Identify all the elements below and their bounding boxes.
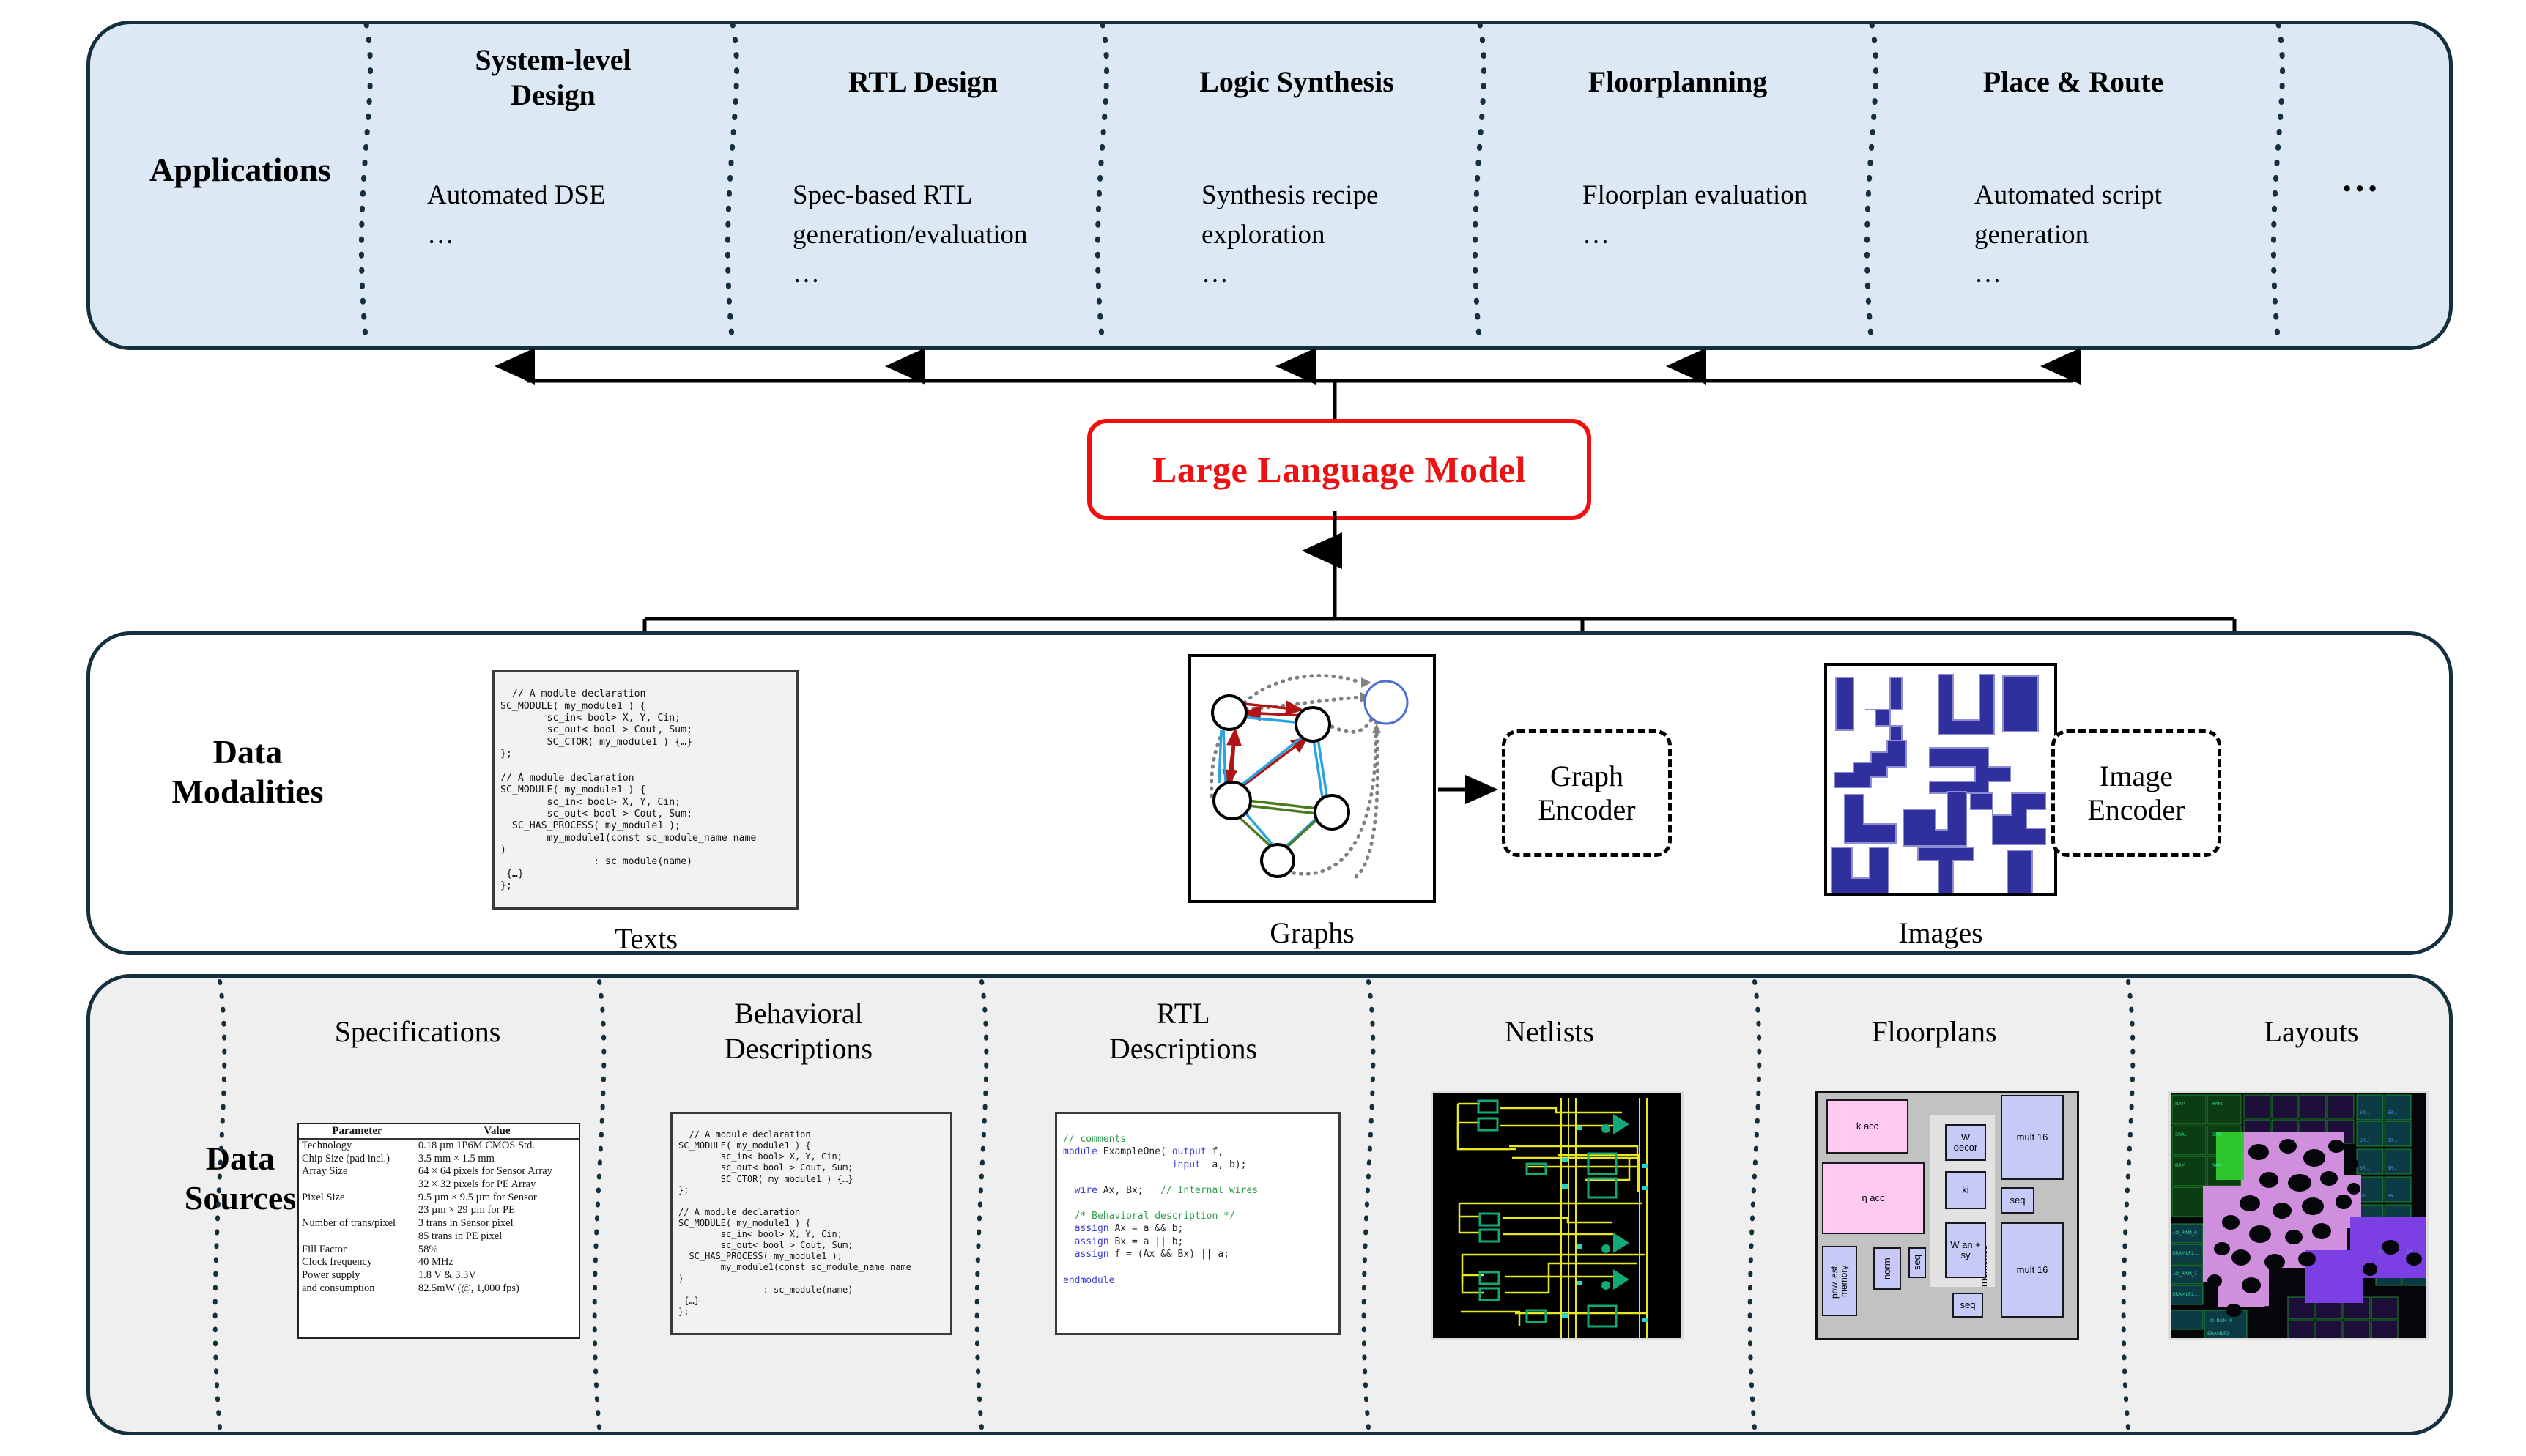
svg-text:SRA..: SRA.. [2175,1132,2188,1137]
floorplan-block-mult16-bottom: mult 16 [2001,1222,2064,1318]
svg-text:SRAMLP2...: SRAMLP2... [2172,1250,2199,1256]
image-encoder-label: Image Encoder [2087,759,2185,827]
spec-value-cell: 64 × 64 pixels for Sensor Array [415,1165,579,1178]
spec-parameter-cell: Number of trans/pixel [299,1217,415,1230]
application-title-floorplanning: Floorplanning [1491,64,1864,100]
svg-text:RAM: RAM [2212,1162,2222,1168]
application-body-logic-synthesis: Synthesis recipe exploration … [1201,176,1516,294]
source-title-floorplans: Floorplans [1769,1014,2099,1050]
svg-text:RAM: RAM [2175,1162,2185,1168]
floorplan-block-ki: ki [1945,1171,1986,1209]
floorplan-block-label: W decor [1954,1132,1978,1154]
source-title-layouts: Layouts [2150,1014,2473,1050]
layout-illustration: RAMRAM SRA..SRA.. RAMRAM ..O_RAM_0SRAMLP… [2171,1093,2429,1340]
table-row: Clock frequency40 MHz [299,1256,579,1269]
modality-caption-graphs: Graphs [1188,915,1436,950]
modality-caption-texts: Texts [500,921,793,956]
svg-text:SR...: SR... [2388,1138,2398,1143]
layouts-card: RAMRAM SRA..SRA.. RAMRAM ..O_RAM_0SRAMLP… [2168,1091,2429,1340]
spec-col-header-parameter: Parameter [299,1124,415,1139]
svg-text:SRAMLP2: SRAMLP2 [2207,1331,2229,1337]
graph-encoder-box[interactable]: Graph Encoder [1502,729,1672,857]
graphs-card [1188,654,1436,903]
svg-text:SR...: SR... [2388,1110,2398,1115]
svg-text:SR...: SR... [2360,1138,2370,1143]
spec-value-cell: 9.5 µm × 9.5 µm for Sensor [415,1192,579,1205]
graph-illustration [1191,657,1436,903]
spec-parameter-cell [299,1230,415,1244]
floorplan-block-seq-left: seq [1908,1247,1926,1278]
floorplan-block-label: mult 16 [2017,1132,2048,1143]
floorplan-block-label: seq [2010,1195,2026,1206]
application-title-system-level-design: System-level Design [381,42,725,113]
application-title-place-and-route: Place & Route [1883,64,2264,100]
spec-parameter-cell: Fill Factor [299,1244,415,1257]
floorplan-block-label: W an + sy [1950,1240,1981,1261]
images-card [1824,663,2057,896]
table-row: 32 × 32 pixels for PE Array [299,1178,579,1192]
floorplan-block-mult16-top: mult 16 [2001,1095,2064,1180]
source-title-behavioral-descriptions: Behavioral Descriptions [630,996,967,1066]
svg-text:SR...: SR... [2360,1194,2370,1199]
netlist-illustration [1433,1093,1684,1340]
spec-parameter-cell: Power supply [299,1269,415,1282]
table-row: Array Size64 × 64 pixels for Sensor Arra… [299,1165,579,1178]
graph-encoder-label: Graph Encoder [1538,759,1635,827]
modality-caption-images: Images [1824,915,2057,950]
spec-parameter-cell: Pixel Size [299,1192,415,1205]
table-row: and consumption82.5mW (@, 1,000 fps) [299,1282,579,1296]
svg-text:..O_RAM_0: ..O_RAM_0 [2207,1318,2232,1323]
systemc-code: // A module declaration SC_MODULE( my_mo… [500,688,756,891]
floorplan-block-eta-acc: η acc [1822,1162,1925,1234]
floorplan-block-label: pow. est. memory [1830,1263,1849,1298]
source-title-specifications: Specifications [256,1014,579,1050]
application-title-logic-synthesis: Logic Synthesis [1117,64,1476,100]
spec-value-cell: 23 µm × 29 µm for PE [415,1204,579,1217]
svg-text:RAM: RAM [2212,1101,2222,1107]
floorplan-block-label: mult 16 [2017,1265,2048,1275]
applications-row-label: Applications [101,150,379,190]
floorplan-block-k-acc: k acc [1826,1099,1908,1154]
application-body-rtl-design: Spec-based RTL generation/evaluation … [793,176,1130,294]
floorplan-block-label: seq [1912,1255,1922,1271]
images-illustration [1827,666,2057,896]
application-body-system-level-design: Automated DSE … [427,176,735,254]
table-row: Pixel Size9.5 µm × 9.5 µm for Sensor [299,1192,579,1205]
texts-code-card: // A module declaration SC_MODULE( my_mo… [492,670,799,910]
floorplan-block-norm: norm [1873,1247,1901,1290]
floorplan-block-label: norm [1882,1258,1892,1279]
application-body-place-and-route: Automated script generation … [1974,176,2289,294]
spec-parameter-cell [299,1204,415,1217]
spec-parameter-cell: Clock frequency [299,1256,415,1269]
spec-table-element: Parameter Value Technology0.18 µm 1P6M C… [299,1124,579,1295]
table-row: Number of trans/pixel3 trans in Sensor p… [299,1217,579,1230]
spec-value-cell: 85 trans in PE pixel [415,1230,579,1244]
svg-text:SR...: SR... [2379,1249,2389,1255]
table-row: Fill Factor58% [299,1244,579,1257]
applications-more-ellipsis: … [2341,157,2382,201]
svg-text:SR...: SR... [2388,1194,2398,1199]
spec-value-cell: 0.18 µm 1P6M CMOS Std. [415,1139,579,1153]
floorplan-block-label: k acc [1856,1121,1878,1132]
spec-value-cell: 3 trans in Sensor pixel [415,1217,579,1230]
image-encoder-box[interactable]: Image Encoder [2051,729,2221,857]
floorplan-block-seq-right: seq [2001,1187,2034,1214]
llm-label: Large Language Model [1152,448,1526,491]
floorplans-card: k acc η acc pow. est. memory norm seq me… [1815,1091,2079,1340]
floorplan-block-label: η acc [1862,1193,1884,1203]
svg-text:SR...: SR... [2388,1166,2398,1171]
floorplan-block-pow-est-memory: pow. est. memory [1822,1246,1857,1316]
floorplan-block-label: seq [1960,1300,1976,1310]
rtl-description-code-card: // comments module ExampleOne( output f,… [1055,1112,1341,1335]
table-row: 85 trans in PE pixel [299,1230,579,1244]
spec-value-cell: 1.8 V & 3.3V [415,1269,579,1282]
spec-value-cell: 58% [415,1244,579,1257]
svg-text:SR...: SR... [2407,1249,2417,1255]
svg-text:..O_RAM_0: ..O_RAM_0 [2172,1230,2197,1236]
spec-value-cell: 40 MHz [415,1256,579,1269]
table-row: Chip Size (pad incl.)3.5 mm × 1.5 mm [299,1153,579,1166]
large-language-model-box[interactable]: Large Language Model [1087,419,1591,520]
behavioral-systemc-code: // A module declaration SC_MODULE( my_mo… [678,1129,911,1317]
svg-text:SRAMLP2...: SRAMLP2... [2172,1291,2199,1297]
svg-text:SR...: SR... [2360,1166,2370,1171]
svg-text:SRA..: SRA.. [2212,1132,2224,1137]
application-body-floorplanning: Floorplan evaluation … [1582,176,1919,254]
svg-text:RAM: RAM [2175,1101,2185,1107]
spec-value-cell: 82.5mW (@, 1,000 fps) [415,1282,579,1296]
floorplan-block-label: ki [1962,1185,1968,1195]
spec-value-cell: 32 × 32 pixels for PE Array [415,1178,579,1192]
table-row: Technology0.18 µm 1P6M CMOS Std. [299,1139,579,1153]
floorplan-block-seq-bottom: seq [1952,1293,1983,1318]
spec-parameter-cell: Chip Size (pad incl.) [299,1153,415,1166]
spec-parameter-cell [299,1178,415,1192]
behavioral-description-code-card: // A module declaration SC_MODULE( my_mo… [670,1112,952,1335]
source-title-netlists: Netlists [1385,1014,1714,1050]
table-row: 23 µm × 29 µm for PE [299,1204,579,1217]
floorplan-block-w-decor: W decor [1945,1124,1986,1161]
application-title-rtl-design: RTL Design [751,64,1095,100]
modalities-row-label: Data Modalities [101,732,394,812]
source-title-rtl-descriptions: RTL Descriptions [1018,996,1348,1066]
spec-value-cell: 3.5 mm × 1.5 mm [415,1153,579,1166]
netlists-card [1431,1091,1684,1340]
svg-text:SR...: SR... [2360,1110,2370,1115]
specifications-table: Parameter Value Technology0.18 µm 1P6M C… [297,1123,580,1339]
floorplan-block-w-an-sy: W an + sy [1945,1222,1986,1278]
spec-col-header-value: Value [415,1124,579,1139]
svg-text:..O_RAM_1: ..O_RAM_1 [2172,1271,2197,1277]
spec-parameter-cell: and consumption [299,1282,415,1296]
spec-parameter-cell: Array Size [299,1165,415,1178]
spec-parameter-cell: Technology [299,1139,415,1153]
table-row: Power supply1.8 V & 3.3V [299,1269,579,1282]
